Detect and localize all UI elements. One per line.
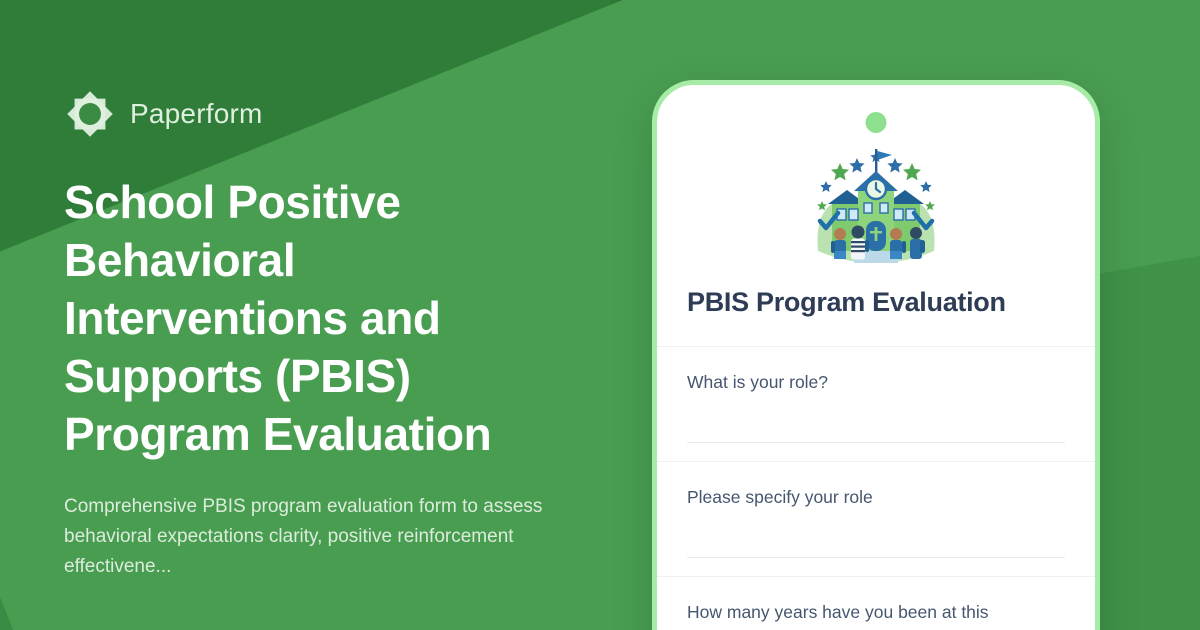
page-title: School Positive Behavioral Interventions…	[64, 174, 584, 464]
field-label: Please specify your role	[687, 486, 1065, 510]
form-field-years-at-school[interactable]: How many years have you been at this	[657, 576, 1095, 630]
camera-dot-icon	[866, 112, 887, 133]
form-fields: What is your role? Please specify your r…	[657, 346, 1095, 630]
brand-lockup: Paperform	[64, 88, 624, 140]
form-field-specify-role[interactable]: Please specify your role	[657, 461, 1095, 576]
field-label: What is your role?	[687, 371, 1065, 395]
social-share-card: Paperform School Positive Behavioral Int…	[0, 0, 1200, 630]
form-title: PBIS Program Evaluation	[687, 287, 1065, 318]
phone-mockup: PBIS Program Evaluation What is your rol…	[652, 80, 1100, 630]
school-building-illustration	[796, 141, 956, 273]
brand-name: Paperform	[130, 100, 263, 128]
page-description: Comprehensive PBIS program evaluation fo…	[64, 492, 564, 582]
hero-content: Paperform School Positive Behavioral Int…	[64, 88, 624, 582]
form-field-role[interactable]: What is your role?	[657, 346, 1095, 461]
field-input-underline[interactable]	[687, 442, 1065, 443]
paperform-star-logo-icon	[64, 88, 116, 140]
field-input-underline[interactable]	[687, 557, 1065, 558]
field-label: How many years have you been at this	[687, 601, 1065, 625]
